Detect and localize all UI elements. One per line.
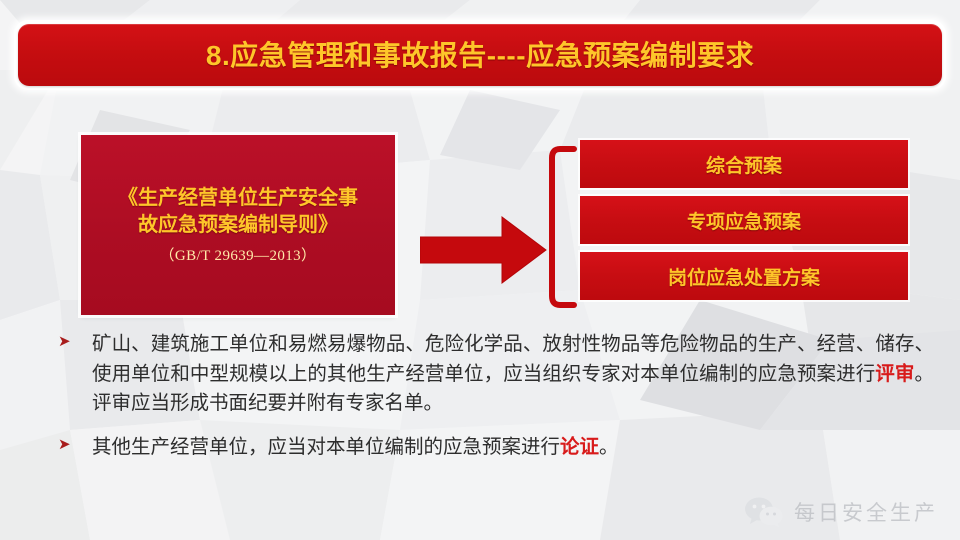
bullet-highlight-pingshen: 评审 bbox=[875, 363, 914, 385]
bullet-paragraph-1: 矿山、建筑施工单位和易燃易爆物品、危险化学品、放射性物品等危险物品的生产、经营、… bbox=[92, 330, 934, 419]
standard-code: （GB/T 29639—2013） bbox=[160, 244, 317, 265]
bullet-paragraph-2: 其他生产经营单位，应当对本单位编制的应急预案进行论证。 bbox=[92, 433, 934, 463]
bullet-arrow-icon: ➤ bbox=[58, 330, 92, 349]
title-banner-bar: 8.应急管理和事故报告----应急预案编制要求 bbox=[18, 24, 942, 86]
standard-reference-box: 《生产经营单位生产安全事 故应急预案编制导则》 （GB/T 29639—2013… bbox=[81, 135, 395, 315]
plan-bar-label: 综合预案 bbox=[706, 151, 782, 178]
right-arrow-icon bbox=[420, 215, 548, 285]
bullet-segment: 。 bbox=[599, 436, 619, 458]
bullet-segment: 其他生产经营单位，应当对本单位编制的应急预案进行 bbox=[92, 436, 560, 458]
slide-title-banner: 8.应急管理和事故报告----应急预案编制要求 bbox=[14, 20, 946, 90]
wechat-icon bbox=[744, 496, 784, 528]
watermark: 每日安全生产 bbox=[744, 496, 938, 528]
plan-bar-post[interactable]: 岗位应急处置方案 bbox=[580, 252, 908, 300]
left-brace-icon bbox=[548, 145, 578, 309]
list-item: ➤ 其他生产经营单位，应当对本单位编制的应急预案进行论证。 bbox=[58, 433, 934, 463]
standard-title-line-2: 故应急预案编制导则》 bbox=[138, 212, 338, 239]
plan-bar-special[interactable]: 专项应急预案 bbox=[580, 196, 908, 244]
standard-title-line-1: 《生产经营单位生产安全事 bbox=[118, 185, 358, 212]
body-content: ➤ 矿山、建筑施工单位和易燃易爆物品、危险化学品、放射性物品等危险物品的生产、经… bbox=[58, 330, 934, 477]
page-title: 8.应急管理和事故报告----应急预案编制要求 bbox=[206, 34, 754, 74]
plan-bar-label: 专项应急预案 bbox=[687, 207, 801, 234]
plan-bar-comprehensive[interactable]: 综合预案 bbox=[580, 140, 908, 188]
list-item: ➤ 矿山、建筑施工单位和易燃易爆物品、危险化学品、放射性物品等危险物品的生产、经… bbox=[58, 330, 934, 419]
bullet-highlight-lunzheng: 论证 bbox=[560, 436, 599, 458]
plan-bar-label: 岗位应急处置方案 bbox=[668, 263, 820, 290]
bullet-segment: 矿山、建筑施工单位和易燃易爆物品、危险化学品、放射性物品等危险物品的生产、经营、… bbox=[92, 333, 934, 385]
plan-type-list: 综合预案 专项应急预案 岗位应急处置方案 bbox=[580, 140, 908, 300]
watermark-text: 每日安全生产 bbox=[794, 497, 938, 527]
bullet-arrow-icon: ➤ bbox=[58, 433, 92, 452]
